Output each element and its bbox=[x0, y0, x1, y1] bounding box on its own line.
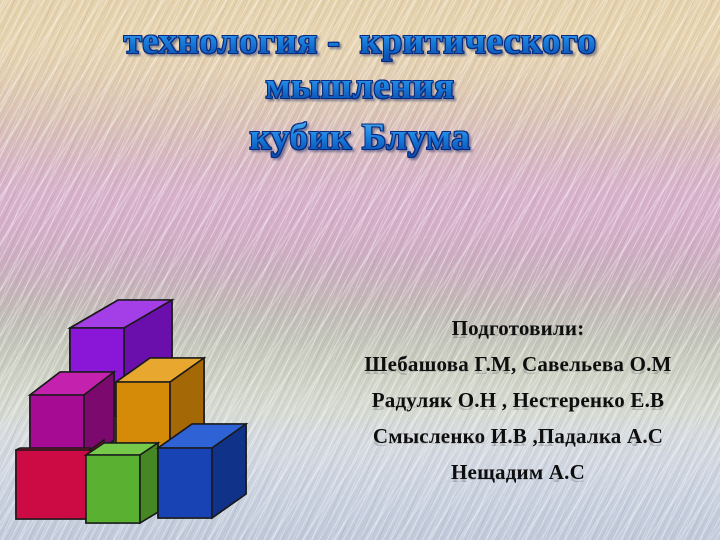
authors-heading: Подготовили: bbox=[332, 318, 704, 339]
author-row: Нещадим А.С Нещадим А.С bbox=[332, 462, 704, 498]
author-name-1: Шебашова Г.М, Савельева О.М bbox=[332, 354, 704, 375]
author-name-3: Смысленко И.В ,Падалка А.С bbox=[332, 426, 704, 447]
cube-green bbox=[86, 443, 158, 523]
author-name-2: Радуляк О.Н , Нестеренко Е.В bbox=[332, 390, 704, 411]
author-row: Шебашова Г.М, Савельева О.М Шебашова Г.М… bbox=[332, 354, 704, 390]
presentation-slide: технология - критического мышления кубик… bbox=[0, 0, 720, 540]
author-name-4: Нещадим А.С bbox=[332, 462, 704, 483]
author-row: Радуляк О.Н , Нестеренко Е.В Радуляк О.Н… bbox=[332, 390, 704, 426]
cube-blue bbox=[158, 424, 246, 518]
authors-block: Подготовили: Подготовили: Шебашова Г.М, … bbox=[332, 318, 704, 498]
author-row: Смысленко И.В ,Падалка А.С Смысленко И.В… bbox=[332, 426, 704, 462]
authors-heading-row: Подготовили: Подготовили: bbox=[332, 318, 704, 354]
